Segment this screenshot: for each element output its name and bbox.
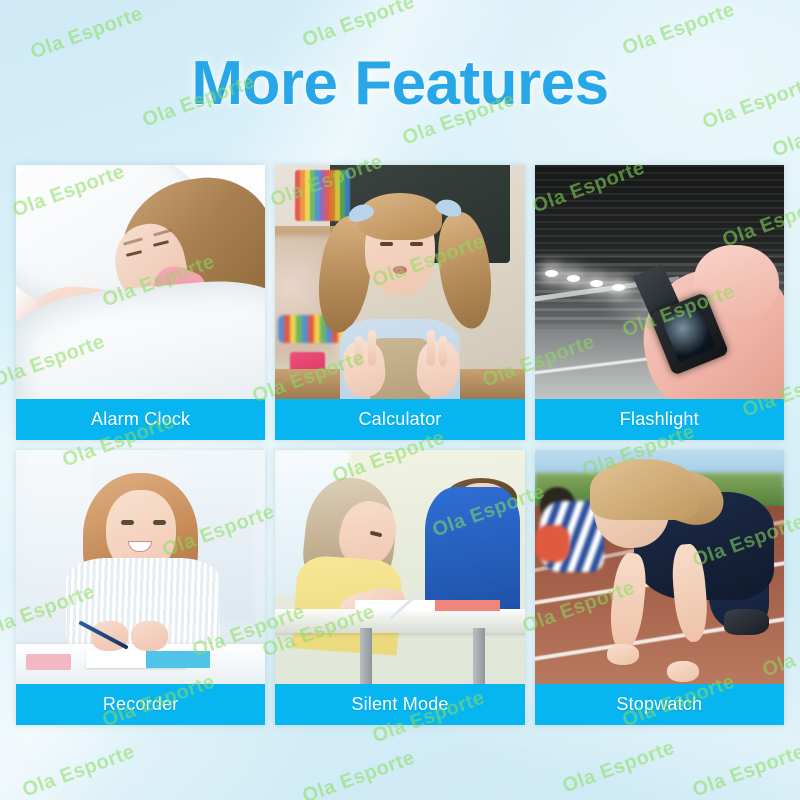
finger-1-shape [355, 336, 363, 366]
photo-kids-writing-exam [275, 450, 524, 684]
eye-right-shape [410, 242, 423, 246]
photo-girl-counting-fingers [275, 165, 524, 399]
photo-sleeping-girl [16, 165, 265, 399]
finger-4-shape [439, 336, 447, 366]
feature-showcase-page: More Features Alarm Clock [0, 0, 800, 800]
feature-label-recorder: Recorder [16, 684, 265, 725]
feature-label-calculator: Calculator [275, 399, 524, 440]
watermark-text: Ola Esporte [560, 737, 679, 799]
hair-shape [590, 459, 700, 520]
photo-girl-writing-smiling [16, 450, 265, 684]
mouth-shape [393, 266, 407, 274]
background-kid-arm-shape [535, 525, 570, 562]
hand-left-shape [607, 644, 639, 665]
feature-card-stopwatch[interactable]: Stopwatch [535, 450, 784, 725]
feature-label-flashlight: Flashlight [535, 399, 784, 440]
hand-right-shape [131, 621, 168, 651]
watermark-text: Ola Esporte [690, 741, 800, 800]
feature-label-stopwatch: Stopwatch [535, 684, 784, 725]
running-shoe-shape [724, 609, 769, 635]
photo-kids-running-track [535, 450, 784, 684]
red-folder-shape [435, 600, 500, 612]
hand-right-shape [667, 661, 699, 682]
feature-card-alarm-clock[interactable]: Alarm Clock [16, 165, 265, 440]
photo-watch-in-tunnel [535, 165, 784, 399]
feature-card-silent-mode[interactable]: Silent Mode [275, 450, 524, 725]
eye-right-shape [153, 520, 166, 525]
pink-paper-shape [26, 654, 71, 670]
finger-2-shape [368, 330, 376, 366]
feature-grid: Alarm Clock [16, 165, 784, 725]
blue-paper-shape [146, 651, 211, 667]
feature-label-silent-mode: Silent Mode [275, 684, 524, 725]
feature-label-alarm-clock: Alarm Clock [16, 399, 265, 440]
eye-left-shape [121, 520, 134, 525]
eye-left-shape [380, 242, 393, 246]
desk-leg-shape [360, 628, 372, 684]
tunnel-lamp-icon [567, 275, 580, 282]
desk-leg-shape [473, 628, 485, 684]
feature-card-recorder[interactable]: Recorder [16, 450, 265, 725]
tunnel-lamp-icon [590, 280, 603, 287]
feature-card-flashlight[interactable]: Flashlight [535, 165, 784, 440]
finger-3-shape [427, 330, 435, 366]
rainbow-poster-shape [295, 170, 350, 221]
page-title: More Features [0, 48, 800, 119]
watermark-text: Ola Esporte [300, 747, 419, 800]
watermark-text: Ola Esporte [20, 741, 139, 800]
feature-card-calculator[interactable]: Calculator [275, 165, 524, 440]
watermark-text: Ola Esporte [300, 0, 419, 52]
desk-shape [275, 609, 524, 632]
